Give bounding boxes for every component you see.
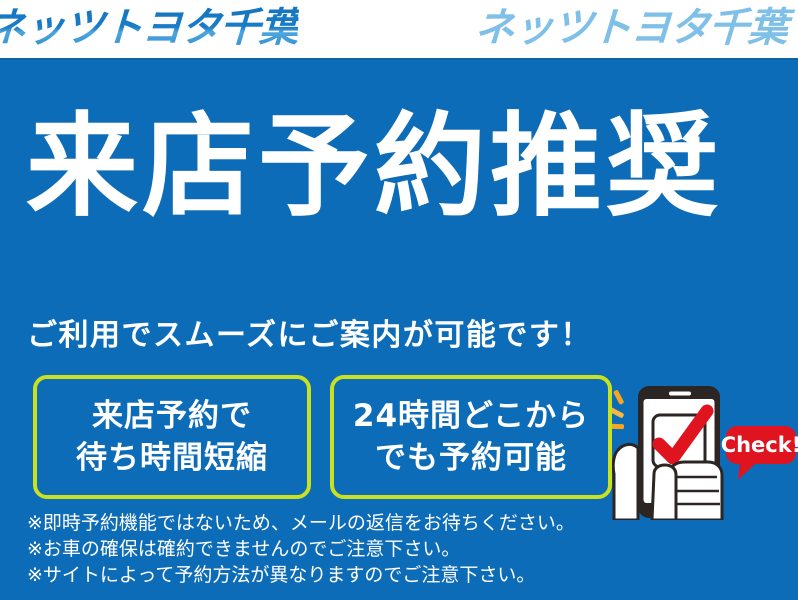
- note-line-1: ※即時予約機能ではないため、メールの返信をお待ちください。: [27, 510, 575, 536]
- feature-box-reservation: 来店予約で 待ち時間短縮: [33, 375, 311, 499]
- header-band: ネッツトヨタ千葉 ネッツトヨタ千葉: [0, 0, 798, 58]
- bubble-label: Check!: [721, 433, 798, 457]
- note-line-2: ※お車の確保は確約できませんのでご注意下さい。: [27, 536, 575, 562]
- feature-box-24hours: 24時間どこから でも予約可能: [330, 375, 612, 499]
- advertisement-poster: ネッツトヨタ千葉 ネッツトヨタ千葉 来店予約推奨 ご利用でスムーズにご案内が可能…: [0, 0, 798, 600]
- note-line-3: ※サイトによって予約方法が異なりますのでご注意下さい。: [27, 562, 575, 588]
- phone-check-illustration: Check!: [612, 382, 798, 520]
- brand-logo-text: ネッツトヨタ千葉: [0, 6, 299, 50]
- header-divider: [0, 58, 798, 60]
- feature-box-line-2: でも予約可能: [375, 437, 567, 479]
- brand-logo: ネッツトヨタ千葉: [0, 3, 784, 53]
- feature-box-line-1: 24時間どこから: [353, 395, 589, 437]
- feature-box-line-2: 待ち時間短縮: [76, 437, 268, 479]
- feature-box-line-1: 来店予約で: [92, 395, 252, 437]
- speech-bubble-icon: Check!: [721, 426, 798, 480]
- subtitle: ご利用でスムーズにご案内が可能です！: [27, 317, 592, 355]
- red-checkmark-icon: [653, 411, 707, 467]
- motion-lines-icon: [612, 389, 624, 429]
- disclaimer-notes: ※即時予約機能ではないため、メールの返信をお待ちください。 ※お車の確保は確約で…: [27, 510, 575, 588]
- page-title: 来店予約推奨: [26, 108, 772, 226]
